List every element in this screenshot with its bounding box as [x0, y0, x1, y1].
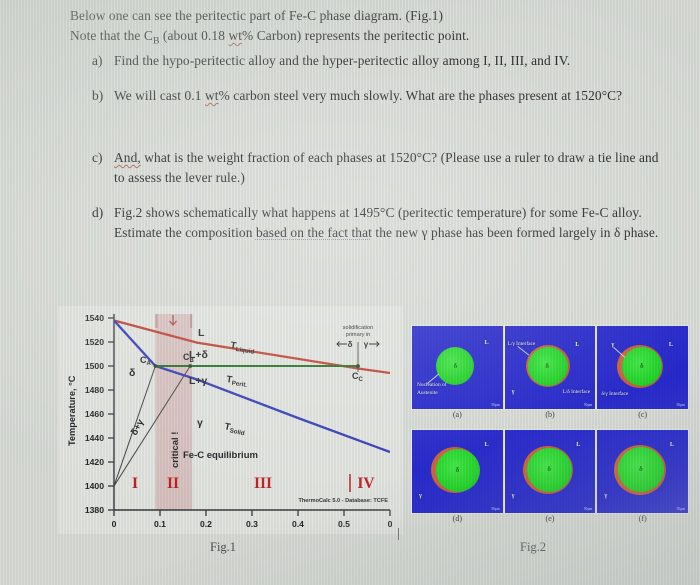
intro-line: Below one can see the peritectic part of…: [70, 6, 682, 26]
label-gamma: γ: [197, 417, 203, 429]
question-marker-b: b): [92, 86, 107, 106]
svg-text:0.3: 0.3: [246, 519, 258, 529]
note-prefix: Note that the C: [70, 28, 153, 43]
critical-label: critical !: [170, 432, 181, 468]
micrograph-panel-d: δ L γ 50µm (d): [412, 430, 503, 531]
svg-text:1500: 1500: [85, 361, 104, 371]
svg-text:1380: 1380: [85, 505, 104, 515]
annotation-b-line2: L/δ Interface: [563, 389, 591, 395]
liquid-label-c: L: [669, 341, 673, 348]
caption-e: (e): [505, 514, 596, 523]
gamma-label-f: γ: [604, 492, 607, 499]
fe-c-phase-diagram: 1540 1520 1500 1480 1460 1440 1420 1400 …: [58, 306, 403, 534]
solidification-delta: δ: [348, 340, 353, 349]
note-rest: (about 0.18 wt% Carbon) represents the p…: [159, 28, 469, 43]
equilibrium-label: Fe-C equilibrium: [183, 450, 258, 461]
svg-text:1420: 1420: [85, 457, 104, 467]
caption-d: (d): [412, 514, 503, 523]
delta-phase-d: δ: [436, 449, 480, 492]
page-tick-mark: [398, 528, 399, 540]
alloy-marker-IV: IV: [357, 475, 375, 492]
solidification-line1: solidification: [343, 325, 373, 331]
question-body-b: We will cast 0.1 wt% carbon steel very m…: [114, 86, 662, 106]
solidification-gamma: γ: [364, 340, 369, 349]
liquid-label-b: L: [575, 341, 579, 348]
delta-core-f: δ: [636, 464, 645, 474]
caption-c: (c): [597, 410, 688, 419]
delta-core-c: δ: [637, 361, 646, 371]
micrograph-panel-c: δ L γ δ/γ Interface 50µm (c): [597, 326, 688, 427]
fig1-caption: Fig.1: [210, 540, 236, 555]
fig2-caption: Fig.2: [520, 540, 546, 555]
scale-bar-b: 50µm: [584, 403, 592, 407]
svg-text:0: 0: [112, 519, 117, 529]
question-body-d: Fig.2 shows schematically what happens a…: [114, 203, 662, 242]
scale-bar-a: 50µm: [491, 403, 499, 407]
delta-phase-a: δ: [436, 347, 474, 385]
label-delta: δ: [129, 367, 135, 379]
leader-line-b1: [517, 346, 529, 355]
liquid-label-a: L: [485, 339, 489, 346]
question-item-b: b) We will cast 0.1 wt% carbon steel ver…: [92, 86, 662, 106]
annotation-c-line1: δ/γ Interface: [601, 391, 628, 397]
svg-text:0.1: 0.1: [154, 519, 166, 529]
delta-core-d: δ: [453, 465, 462, 475]
scale-bar-c: 50µm: [677, 403, 685, 407]
delta-core-e: δ: [545, 464, 554, 474]
micrograph-panel-a: δ L Nucleation of Austenite 50µm (a): [412, 326, 503, 427]
liquid-label-f: L: [670, 441, 674, 448]
label-l-plus-delta: L+δ: [189, 349, 208, 361]
phase-diagram-svg: 1540 1520 1500 1480 1460 1440 1420 1400 …: [58, 306, 403, 534]
label-liquid: L: [198, 327, 205, 339]
annotation-b-line1: L/γ Interface: [508, 341, 536, 347]
scale-bar-f: 50µm: [677, 507, 685, 511]
caption-f: (f): [597, 514, 688, 523]
scale-bar-e: 50µm: [584, 507, 592, 511]
svg-text:0.4: 0.4: [292, 519, 304, 529]
svg-text:1480: 1480: [85, 385, 104, 395]
gamma-label-d: γ: [419, 492, 422, 499]
micrograph-image-a: δ L Nucleation of Austenite 50µm: [412, 326, 503, 409]
delta-phase-e: δ: [527, 448, 572, 492]
solidification-line2: primary in: [346, 332, 371, 338]
y-axis-title: Temperature, °C: [67, 375, 77, 446]
alloy-marker-I: I: [132, 475, 138, 492]
delta-core-a: δ: [451, 361, 460, 371]
gamma-label-b: γ: [512, 388, 515, 395]
delta-phase-b: δ: [528, 347, 568, 386]
question-item-d: d) Fig.2 shows schematically what happen…: [92, 203, 662, 242]
micrograph-panel-f: δ L γ 50µm (f): [597, 430, 688, 531]
micrograph-panel-e: δ L γ 50µm (e): [505, 430, 596, 531]
label-l-plus-gamma: L+γ: [189, 375, 208, 387]
caption-b: (b): [505, 410, 596, 419]
svg-text:0: 0: [388, 519, 393, 529]
question-body-a: Find the hypo-peritectic alloy and the h…: [114, 51, 682, 71]
alloy-marker-II: II: [167, 475, 179, 492]
svg-text:1460: 1460: [85, 409, 104, 419]
alloy-marker-III: III: [254, 475, 272, 492]
annotation-a-line1: Nucleation of: [417, 382, 447, 388]
gamma-label-e: γ: [512, 492, 515, 499]
micrograph-image-c: δ L γ δ/γ Interface 50µm: [597, 326, 688, 409]
thermocalc-source-note: ThermoCalc 5.0 - Database: TCFE: [298, 498, 388, 504]
question-body-c: And, what is the weight fraction of each…: [114, 148, 668, 187]
delta-core-b: δ: [543, 361, 552, 371]
question-marker-c: c): [92, 148, 107, 187]
scale-bar-d: 50µm: [491, 507, 499, 511]
caption-a: (a): [412, 410, 503, 419]
question-marker-d: d): [92, 203, 107, 242]
gamma-label-c: γ: [611, 341, 614, 348]
liquid-label-e: L: [576, 441, 580, 448]
micrograph-image-b: δ L γ L/γ Interface L/δ Interface 50µm: [505, 326, 596, 409]
micrograph-image-f: δ L γ 50µm: [597, 430, 688, 513]
delta-phase-f: δ: [618, 447, 664, 492]
micrograph-panel-b: δ L γ L/γ Interface L/δ Interface 50µm (…: [505, 326, 596, 427]
liquid-label-d: L: [485, 441, 489, 448]
annotation-a-line2: Austenite: [417, 390, 438, 396]
peritectic-note: Note that the CB (about 0.18 wt% Carbon)…: [70, 26, 682, 51]
svg-text:1540: 1540: [85, 313, 104, 323]
svg-text:0.5: 0.5: [338, 519, 350, 529]
micrograph-image-d: δ L γ 50µm: [412, 430, 503, 513]
question-item-a: a) Find the hypo-peritectic alloy and th…: [92, 51, 682, 71]
question-item-c: c) And, what is the weight fraction of e…: [92, 148, 668, 187]
svg-text:1440: 1440: [85, 433, 104, 443]
svg-text:1400: 1400: [85, 481, 104, 491]
micrograph-image-e: δ L γ 50µm: [505, 430, 596, 513]
svg-text:0.2: 0.2: [200, 519, 212, 529]
fig2-micrograph-grid: δ L Nucleation of Austenite 50µm (a) δ L…: [412, 326, 688, 531]
svg-text:1520: 1520: [85, 337, 104, 347]
question-marker-a: a): [92, 51, 107, 71]
